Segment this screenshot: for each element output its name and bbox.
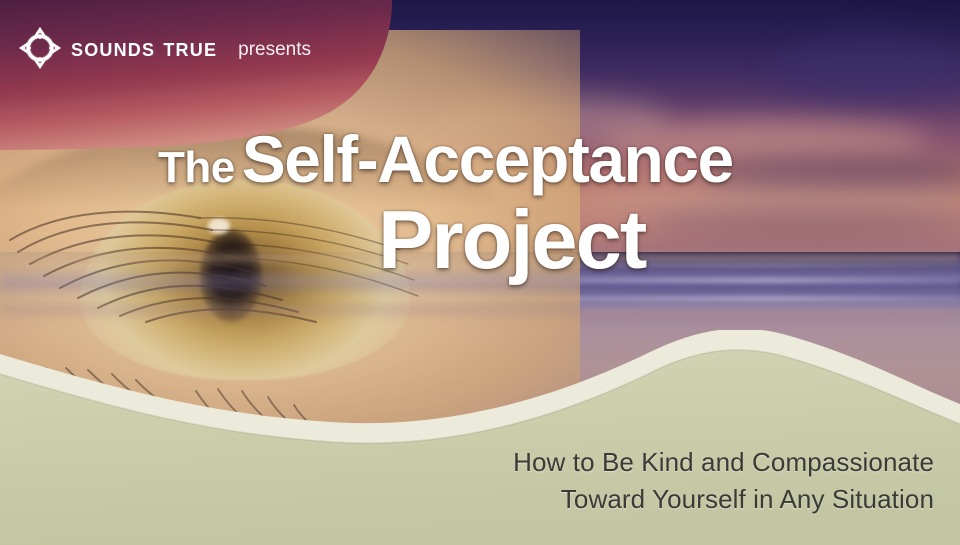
subtitle-line-1: How to Be Kind and Compassionate [513, 444, 934, 482]
sounds-true-mandala-icon [18, 26, 62, 70]
title-card: sounds true presents TheSelf-Acceptance … [0, 0, 960, 545]
bottom-wave-band: How to Be Kind and Compassionate Toward … [0, 330, 960, 545]
presents-label: presents [238, 40, 311, 59]
brand-name: sounds true [71, 36, 217, 61]
subtitle: How to Be Kind and Compassionate Toward … [513, 444, 934, 519]
subtitle-line-2: Toward Yourself in Any Situation [513, 481, 934, 519]
brand-lockup: sounds true presents [18, 26, 311, 70]
brand-header-band: sounds true presents [0, 0, 560, 150]
